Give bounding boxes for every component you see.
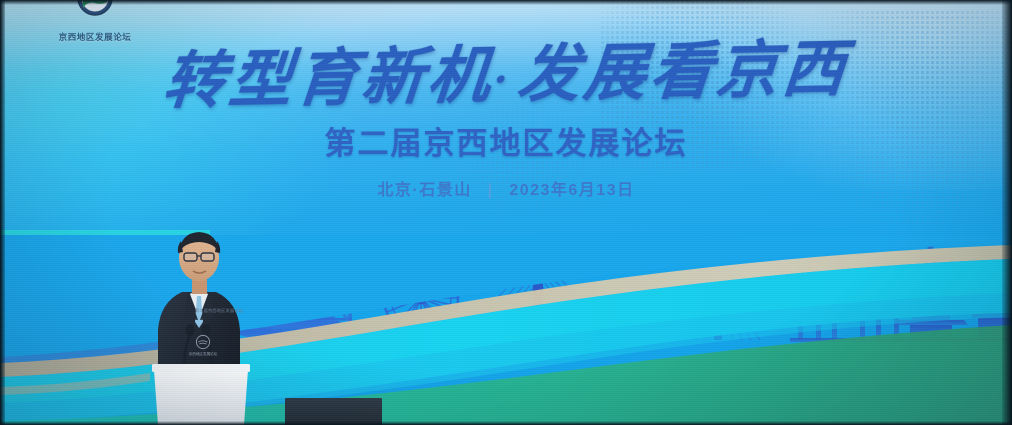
frame-edge-top	[0, 0, 1012, 5]
frame-edge-left	[0, 0, 5, 425]
conference-stage-screenshot: 京西地区发展论坛 转型育新机·发展看京西 第二届京西地区发展论坛 北京·石景山 …	[0, 0, 1012, 425]
frame-edge-right	[1002, 0, 1012, 425]
led-backdrop	[0, 0, 1012, 425]
frame-edge-bottom	[0, 421, 1012, 425]
